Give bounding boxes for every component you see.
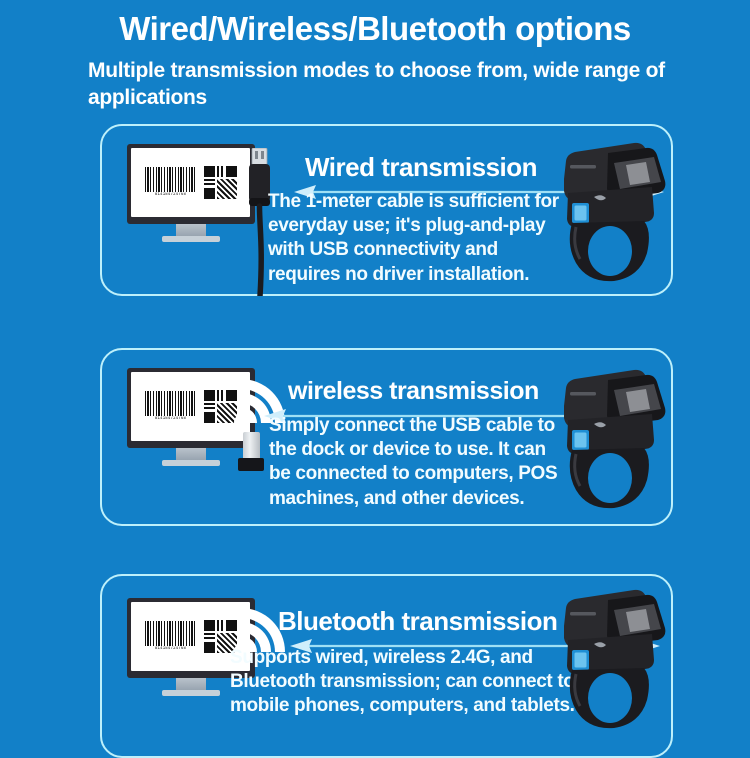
barcode-graphic: 814184724768 xyxy=(145,167,197,198)
barcode-bars xyxy=(145,621,197,646)
ring-barcode-scanner-image xyxy=(546,588,676,738)
barcode-digits: 814184724768 xyxy=(155,193,186,197)
panel-bluetooth-heading: Bluetooth transmission xyxy=(278,606,557,637)
panel-bluetooth-body: Supports wired, wireless 2.4G, and Bluet… xyxy=(230,646,575,719)
panel-wireless-heading: wireless transmission xyxy=(288,377,539,406)
barcode-graphic: 814184724768 xyxy=(145,391,197,422)
panel-wired: 814184724768 Wired transmission xyxy=(100,124,673,296)
monitor-base xyxy=(162,236,220,242)
barcode-bars xyxy=(145,391,197,416)
dongle-body xyxy=(238,458,264,471)
barcode-bars xyxy=(145,167,197,192)
monitor-stand xyxy=(176,678,206,690)
usb-dongle-icon xyxy=(238,432,264,471)
monitor-stand xyxy=(176,448,206,460)
monitor-base xyxy=(162,460,220,466)
header: Wired/Wireless/Bluetooth options Multipl… xyxy=(0,0,750,112)
panel-wired-heading: Wired transmission xyxy=(305,152,537,183)
barcode-graphic: 814184724768 xyxy=(145,621,197,652)
barcode-digits: 814184724768 xyxy=(155,417,186,421)
monitor-stand xyxy=(176,224,206,236)
monitor-base xyxy=(162,690,220,696)
panel-wireless-body: Simply connect the USB cable to the dock… xyxy=(269,414,569,511)
panel-bluetooth: 814184724768 Bluetooth transmission Supp xyxy=(100,574,673,758)
dongle-connector xyxy=(243,432,260,458)
ring-barcode-scanner-image xyxy=(546,368,676,518)
panel-wireless: 814184724768 wireless transmission xyxy=(100,348,673,526)
page-subtitle: Multiple transmission modes to choose fr… xyxy=(0,58,750,112)
panel-wired-body: The 1-meter cable is sufficient for ever… xyxy=(268,190,573,287)
barcode-digits: 814184724768 xyxy=(155,647,186,651)
page-title: Wired/Wireless/Bluetooth options xyxy=(0,10,750,48)
ring-barcode-scanner-image xyxy=(546,141,676,291)
